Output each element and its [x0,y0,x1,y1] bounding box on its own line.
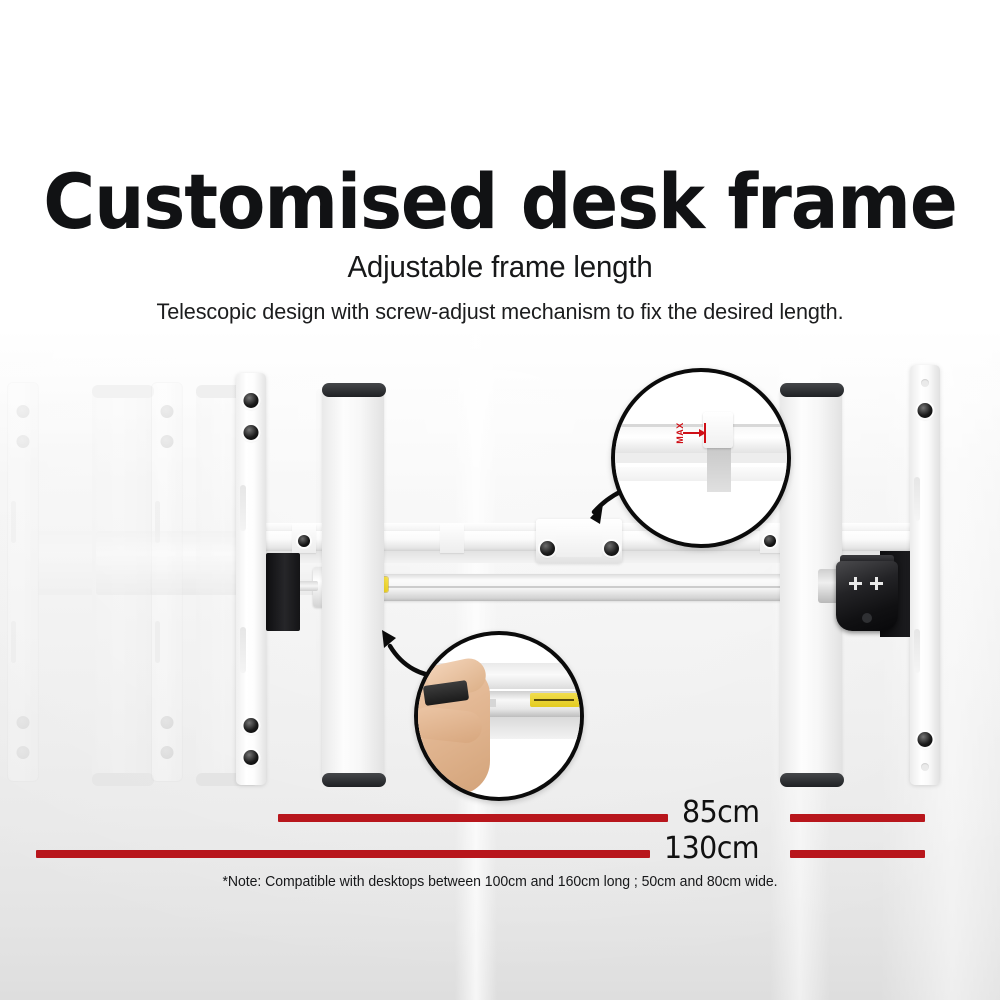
measurement-row-min: 85cm [0,814,1000,823]
right-leg-bracket [910,365,940,785]
callout-rail-shadow [611,453,791,463]
telescopic-joint-inner [556,527,602,557]
page-title: Customised desk frame [35,164,965,240]
left-mount-plate [266,553,300,631]
page-subtitle: Adjustable frame length [25,249,975,285]
callout-slider-clip [703,412,733,448]
measure-label-max: 130cm [664,831,759,866]
left-foot-pad-bottom [322,773,386,787]
measure-bar-max [36,850,650,858]
page-tagline: Telescopic design with screw-adjust mech… [20,299,980,325]
max-marking-stop-line [704,423,706,443]
max-marking-arrow-icon [683,432,705,434]
infographic-canvas: Customised desk frame Adjustable frame l… [0,0,1000,1000]
compatibility-note: *Note: Compatible with desktops between … [15,874,985,890]
left-leg-column [322,389,384,781]
beam-tab-mid [440,523,464,553]
joint-screw-left [540,541,555,556]
measure-bar-min [278,814,668,822]
measure-stub-min [790,814,925,822]
callout-lower-rail [611,467,791,481]
measure-label-min: 85cm [682,795,759,830]
motor-pivot-dot [862,613,872,623]
motor-screw-2 [870,577,883,590]
callout-max-extension: MAX [611,368,791,548]
callout-slider-body [707,446,731,492]
tube-seam [345,586,815,588]
measurement-row-max: 130cm [0,850,1000,859]
callout-screw-adjust [414,631,584,801]
right-foot-pad-top [780,383,844,397]
measure-stub-max [790,850,925,858]
motor-screw-1 [849,577,862,590]
left-foot-pad-top [322,383,386,397]
callout2-warning-label [530,693,580,707]
right-foot-pad-bottom [780,773,844,787]
beam-screw-left [298,535,310,547]
left-leg-bracket [236,373,266,785]
